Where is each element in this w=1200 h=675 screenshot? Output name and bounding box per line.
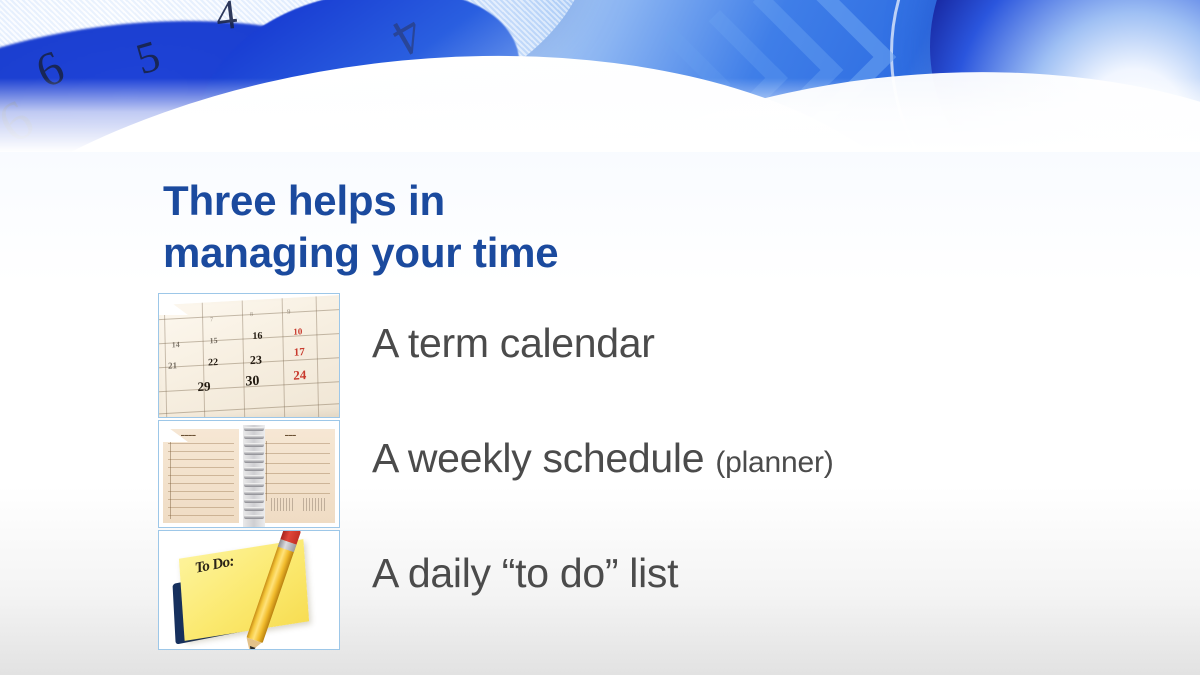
calendar-date: 23	[250, 352, 262, 368]
pencil-lead	[248, 646, 256, 650]
weekly-planner-photo: ▬▬▬▬ ▬▬▬	[158, 420, 340, 528]
slide-canvas: 6 5 4 6 4 Three helps in managing your t…	[0, 0, 1200, 675]
decorative-clock-banner: 6 5 4 6 4	[0, 0, 1200, 152]
list-item-label: A term calendar	[372, 320, 655, 366]
calendar-date: 14	[172, 340, 180, 349]
planner-right-page: ▬▬▬	[259, 429, 335, 523]
calendar-date-weekend: 17	[294, 346, 305, 359]
calendar-date: 15	[209, 336, 217, 345]
calendar-date: 30	[245, 374, 259, 391]
title-line-2: managing your time	[163, 227, 803, 279]
calendar-date-weekend: 10	[293, 326, 302, 337]
banner-bottom-fade	[0, 78, 1200, 152]
calendar-date: 29	[197, 378, 210, 395]
corner-notch	[158, 530, 188, 552]
term-calendar-photo: 7 8 9 14 15 16 21 22 23 29 30 10 17 24	[158, 293, 340, 418]
calendar-date: 21	[168, 360, 177, 371]
planner-left-page: ▬▬▬▬	[163, 429, 239, 523]
planner-spiral-binding	[243, 425, 265, 527]
calendar-date-faint: 7	[210, 317, 213, 323]
list-item-note: (planner)	[715, 446, 833, 479]
to-do-note-photo: To Do:	[158, 530, 340, 650]
list-item: A term calendar	[372, 321, 655, 365]
slide-title: Three helps in managing your time	[163, 175, 803, 279]
calendar-date-weekend: 24	[293, 367, 306, 384]
list-item-label: A weekly schedule	[372, 435, 715, 481]
corner-notch	[158, 420, 188, 442]
calendar-date-faint: 8	[250, 312, 253, 318]
calendar-date: 22	[208, 357, 218, 369]
list-item: A weekly schedule (planner)	[372, 436, 834, 485]
calendar-date: 16	[252, 330, 262, 342]
title-line-1: Three helps in	[163, 175, 803, 227]
corner-notch	[158, 293, 188, 315]
calendar-date-faint: 9	[287, 308, 291, 316]
list-item: A daily “to do” list	[372, 551, 678, 595]
list-item-label: A daily “to do” list	[372, 550, 678, 596]
image-column: 7 8 9 14 15 16 21 22 23 29 30 10 17 24	[158, 293, 342, 650]
